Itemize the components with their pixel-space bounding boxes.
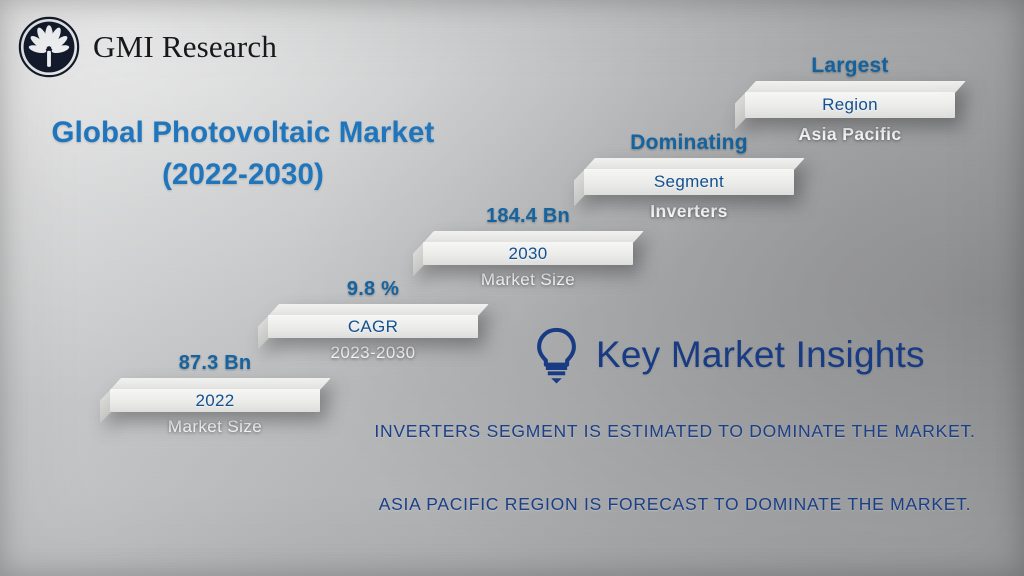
stat-label: Region [822, 95, 878, 115]
stat-label: 2022 [195, 391, 234, 411]
brand-logo: GMI Research [18, 16, 277, 78]
slab-front-face: Segment [584, 169, 794, 195]
stat-value: Largest [745, 54, 955, 78]
slab-front-face: 2030 [423, 242, 633, 265]
insight-text-2: ASIA PACIFIC REGION IS FORECAST TO DOMIN… [355, 491, 995, 518]
stat-label: CAGR [348, 317, 398, 337]
step-slab: 2030 [423, 231, 633, 261]
stat-step-market-size-2022: 87.3 Bn 2022 Market Size [110, 352, 320, 437]
gmi-palm-fan-logo-icon [18, 16, 80, 78]
stat-caption: 2023-2030 [268, 343, 478, 363]
step-slab: CAGR [268, 304, 478, 334]
slab-front-face: CAGR [268, 315, 478, 338]
lightbulb-icon [533, 326, 580, 384]
key-insights-title: Key Market Insights [596, 334, 925, 376]
stat-caption: Asia Pacific [745, 124, 955, 145]
stat-step-cagr: 9.8 % CAGR 2023-2030 [268, 278, 478, 363]
stat-label: Segment [654, 172, 724, 192]
stat-caption: Market Size [423, 270, 633, 290]
brand-name: GMI Research [93, 29, 277, 65]
key-insights-header: Key Market Insights [533, 326, 925, 384]
step-slab: 2022 [110, 378, 320, 408]
stat-caption: Inverters [584, 201, 794, 222]
stat-step-largest-region: Largest Region Asia Pacific [745, 54, 955, 145]
stat-caption: Market Size [110, 417, 320, 437]
step-slab: Segment [584, 158, 794, 192]
step-slab: Region [745, 81, 955, 115]
slab-front-face: Region [745, 92, 955, 118]
page-title-line-1: Global Photovoltaic Market [28, 112, 458, 154]
stat-label: 2030 [508, 244, 547, 264]
page-title-line-2: (2022-2030) [28, 154, 458, 196]
infographic-canvas: GMI Research Global Photovoltaic Market … [0, 0, 1024, 576]
page-title: Global Photovoltaic Market (2022-2030) [28, 112, 458, 196]
insight-text-1: INVERTERS SEGMENT IS ESTIMATED TO DOMINA… [355, 418, 995, 445]
slab-front-face: 2022 [110, 389, 320, 412]
